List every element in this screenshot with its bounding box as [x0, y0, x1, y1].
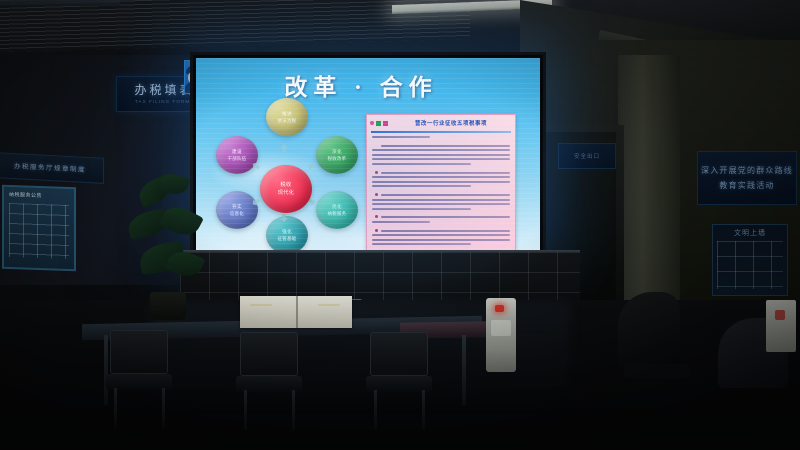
sign-exit-text: 安全出口 — [559, 144, 615, 170]
plant-leaf — [158, 201, 204, 242]
bubble-node-bottom[interactable]: 强化 征管基础 — [266, 216, 308, 252]
notice-poster-title: 纳税服务公告 — [4, 187, 74, 202]
text-line — [372, 199, 510, 201]
potted-plant — [128, 170, 206, 320]
text-line — [381, 145, 510, 147]
chair-center[interactable] — [236, 332, 302, 428]
honor-board-grid — [717, 241, 783, 289]
text-line — [372, 208, 471, 210]
bubble-node-lower-right[interactable]: 优化 纳税服务 — [316, 191, 358, 229]
bullet-text-line — [381, 216, 510, 218]
office-chair-front[interactable] — [618, 292, 692, 412]
bubble-ur-line1: 深化 — [332, 149, 342, 155]
slogan-line-2: 教育实践活动 — [719, 180, 774, 191]
ceiling-light-far — [0, 0, 120, 6]
paper-crease — [318, 304, 340, 306]
chair-right[interactable] — [366, 332, 432, 428]
bubble-bottom-line2: 征管基础 — [278, 236, 297, 242]
chair-back — [240, 332, 298, 376]
text-line — [372, 239, 510, 241]
text-line — [372, 185, 471, 187]
trash-label-icon — [775, 310, 785, 320]
dispenser-tap-panel[interactable] — [491, 320, 511, 336]
office-chair-seat — [624, 364, 690, 378]
text-line — [372, 203, 510, 205]
notice-poster-board: 纳税服务公告 — [2, 185, 76, 272]
bubble-node-upper-right[interactable]: 深化 税收改革 — [316, 136, 358, 174]
chair-left[interactable] — [106, 330, 172, 426]
paragraph-gap — [372, 226, 510, 230]
plant-pot — [150, 292, 186, 320]
left-banner-text: 办税服务厅规章制度 — [0, 153, 103, 185]
text-line — [372, 154, 510, 156]
bubble-ul-line2: 干部队伍 — [228, 156, 247, 162]
text-line — [372, 234, 510, 236]
honor-board-title: 文明上墙 — [713, 225, 787, 238]
bubble-node-lower-left[interactable]: 夯实 信息化 — [216, 191, 258, 229]
sign-left-banner: 办税服务厅规章制度 — [0, 152, 104, 184]
office-scene: 办税填表区 TAX FILING FORM AREA 办税服务厅规章制度 纳税服… — [0, 0, 800, 450]
document-header: 营改一行业征收五项税事项 — [367, 115, 515, 131]
text-line — [372, 176, 510, 178]
chair-leg — [162, 388, 165, 428]
chair-leg — [374, 390, 377, 430]
table-leg — [462, 335, 466, 405]
bubble-center[interactable]: 税收 现代化 — [260, 165, 312, 213]
deco-dot-icon — [370, 121, 374, 125]
chair-back — [110, 330, 168, 374]
bubble-node-top[interactable]: 推进 依法治税 — [266, 98, 308, 136]
paragraph-gap — [372, 168, 510, 172]
chair-leg — [292, 390, 295, 430]
bubble-top-line1: 推进 — [282, 111, 292, 117]
text-line — [372, 181, 510, 183]
text-line — [372, 243, 471, 245]
document-title: 营改一行业征收五项税事项 — [390, 119, 512, 127]
text-line — [372, 149, 510, 151]
bubble-ll-line1: 夯实 — [232, 204, 242, 210]
paper-crease — [250, 304, 272, 306]
slide-title: 改革 · 合作 — [196, 68, 526, 102]
document-body — [367, 136, 515, 245]
bubble-center-line2: 现代化 — [278, 190, 294, 197]
deco-square-icon — [383, 121, 388, 126]
text-line — [372, 158, 510, 160]
slogan-line-1: 深入开展党的群众路线 — [701, 165, 793, 176]
bubble-ll-line2: 信息化 — [230, 211, 244, 217]
trash-bin[interactable] — [766, 300, 796, 352]
bubble-bottom-line1: 强化 — [282, 229, 292, 235]
water-dispenser[interactable] — [486, 298, 516, 372]
text-line — [372, 221, 430, 223]
wall-pillar — [618, 55, 680, 315]
notice-poster-table — [9, 203, 69, 259]
document-stack[interactable] — [240, 296, 352, 328]
paragraph-gap — [372, 141, 510, 145]
led-display-screen[interactable]: 改革 · 合作 推进 依法治税 深化 税收改革 优化 纳税服务 强化 征管基础 … — [190, 52, 546, 258]
sign-exit: 安全出口 — [558, 143, 616, 169]
bubble-lr-line2: 纳税服务 — [328, 211, 347, 217]
bubble-node-upper-left[interactable]: 建设 干部队伍 — [216, 136, 258, 174]
bubble-ul-line1: 建设 — [232, 149, 242, 155]
text-line — [372, 163, 471, 165]
bubble-ur-line2: 税收改革 — [328, 156, 347, 162]
chair-back — [370, 332, 428, 376]
sign-slogan-banner: 深入开展党的群众路线 教育实践活动 — [697, 151, 797, 205]
text-line — [372, 136, 430, 138]
chair-leg — [422, 390, 425, 430]
bullet-text-line — [381, 230, 510, 232]
document-panel[interactable]: 营改一行业征收五项税事项 — [366, 114, 516, 252]
honor-display-board: 文明上墙 — [712, 224, 788, 296]
deco-square-icon — [376, 121, 381, 126]
bubble-lr-line1: 优化 — [332, 204, 342, 210]
bullet-text-line — [381, 172, 510, 174]
bullet-text-line — [381, 194, 510, 196]
chair-leg — [114, 388, 117, 428]
office-chair-back — [618, 292, 680, 368]
power-indicator-light — [495, 305, 504, 312]
slide-canvas: 改革 · 合作 推进 依法治税 深化 税收改革 优化 纳税服务 强化 征管基础 … — [196, 58, 540, 252]
document-divider — [371, 131, 511, 133]
bubble-top-line2: 依法治税 — [278, 118, 297, 124]
bubble-center-line1: 税收 — [280, 182, 291, 189]
chair-leg — [244, 390, 247, 430]
